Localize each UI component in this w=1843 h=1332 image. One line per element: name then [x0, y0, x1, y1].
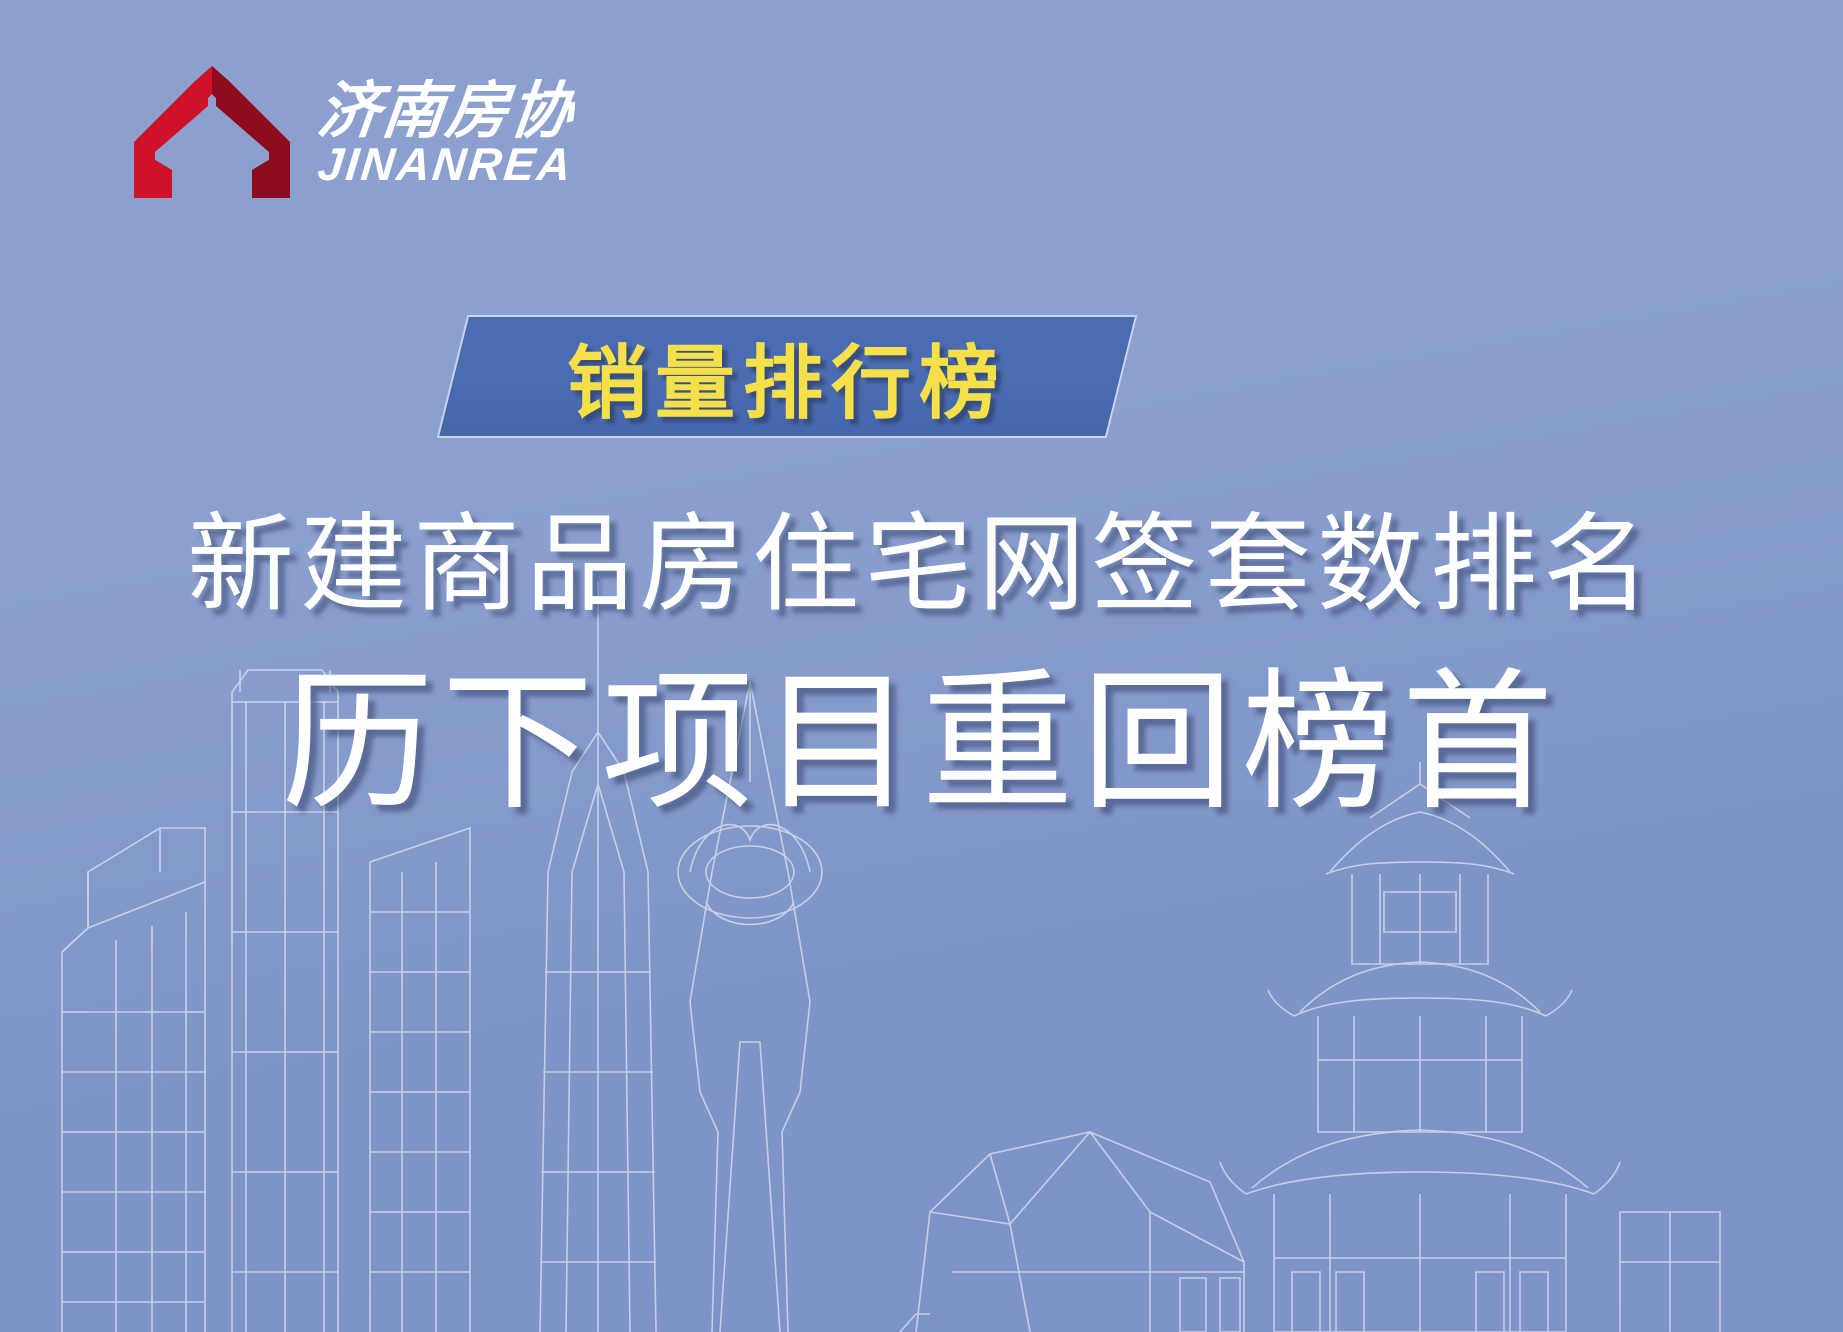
building-mid-block — [370, 828, 470, 1332]
poster-canvas: 济南房协 JINANREA 销量排行榜 新建商品房住宅网签套数排名 历下项目重回… — [0, 0, 1843, 1332]
house-roof-logo-icon — [128, 60, 296, 198]
headline-secondary: 历下项目重回榜首 — [0, 646, 1843, 844]
headline-group: 新建商品房住宅网签套数排名 历下项目重回榜首 — [0, 500, 1843, 843]
landmark-museum-polygon — [900, 1132, 1244, 1332]
brand-logo-text: 济南房协 JINANREA — [318, 71, 574, 186]
ribbon-banner-label: 销量排行榜 — [452, 315, 1122, 438]
brand-name-chinese: 济南房协 — [315, 79, 578, 144]
headline-primary: 新建商品房住宅网签套数排名 — [0, 500, 1843, 634]
building-right-block — [1620, 1212, 1720, 1332]
landmark-pagoda — [1220, 762, 1620, 1332]
brand-logo: 济南房协 JINANREA — [128, 60, 574, 198]
building-left-tower — [62, 828, 205, 1332]
brand-name-english: JINANREA — [316, 141, 577, 187]
